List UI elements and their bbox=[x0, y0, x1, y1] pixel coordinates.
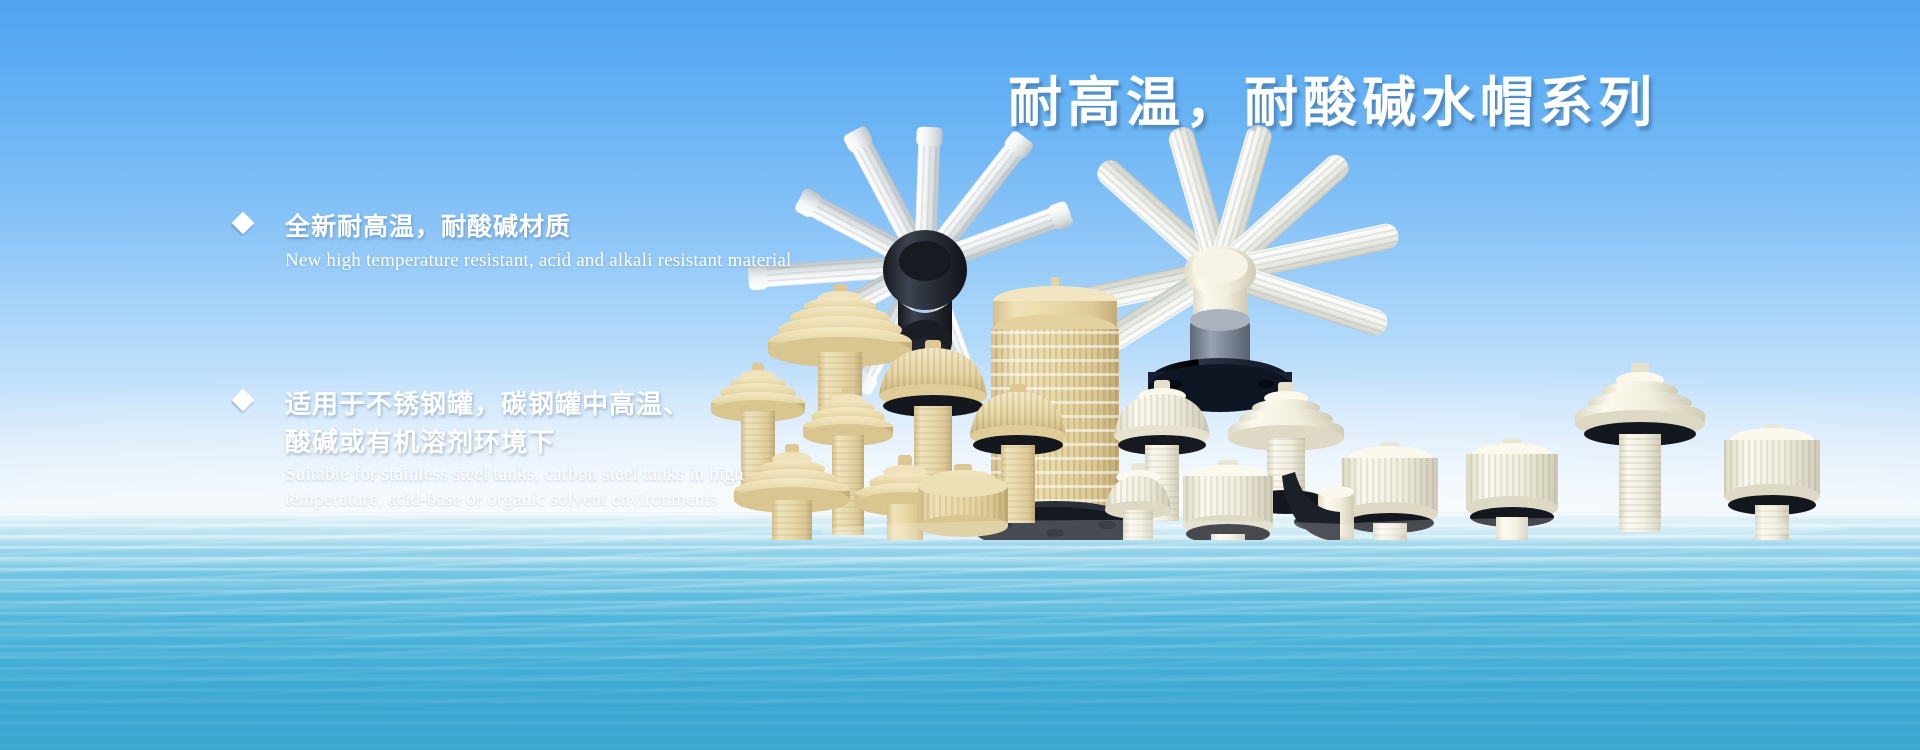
feature-1-title-en: New high temperature resistant, acid and… bbox=[285, 249, 792, 272]
product-banner: 耐高温，耐酸碱水帽系列 全新耐高温，耐酸碱材质 New high tempera… bbox=[0, 0, 1920, 750]
ribbed-dome-nozzle-beige-e bbox=[879, 340, 987, 478]
feature-2-title-en-line1: Suitable for stainless steel tanks, carb… bbox=[285, 463, 744, 486]
product-cluster-image bbox=[700, 120, 1920, 540]
banner-title: 耐高温，耐酸碱水帽系列 bbox=[1008, 58, 1657, 137]
feature-bullet-1: 全新耐高温，耐酸碱材质 New high temperature resista… bbox=[285, 208, 792, 272]
feature-2-title-en-line2: temperature, acid-base or organic solven… bbox=[285, 488, 744, 511]
water-background bbox=[0, 512, 1920, 750]
feature-2-title-cn-line1: 适用于不锈钢罐，碳钢罐中高温、 bbox=[285, 385, 744, 423]
feature-bullet-2: 适用于不锈钢罐，碳钢罐中高温、 酸碱或有机溶剂环境下 Suitable for … bbox=[285, 385, 744, 511]
water-ripples-secondary bbox=[0, 518, 1920, 708]
ribbed-dome-nozzle-cream-h bbox=[1575, 363, 1705, 532]
feature-1-title-cn: 全新耐高温，耐酸碱材质 bbox=[285, 208, 792, 246]
feature-2-title-cn-line2: 酸碱或有机溶剂环境下 bbox=[285, 423, 744, 461]
